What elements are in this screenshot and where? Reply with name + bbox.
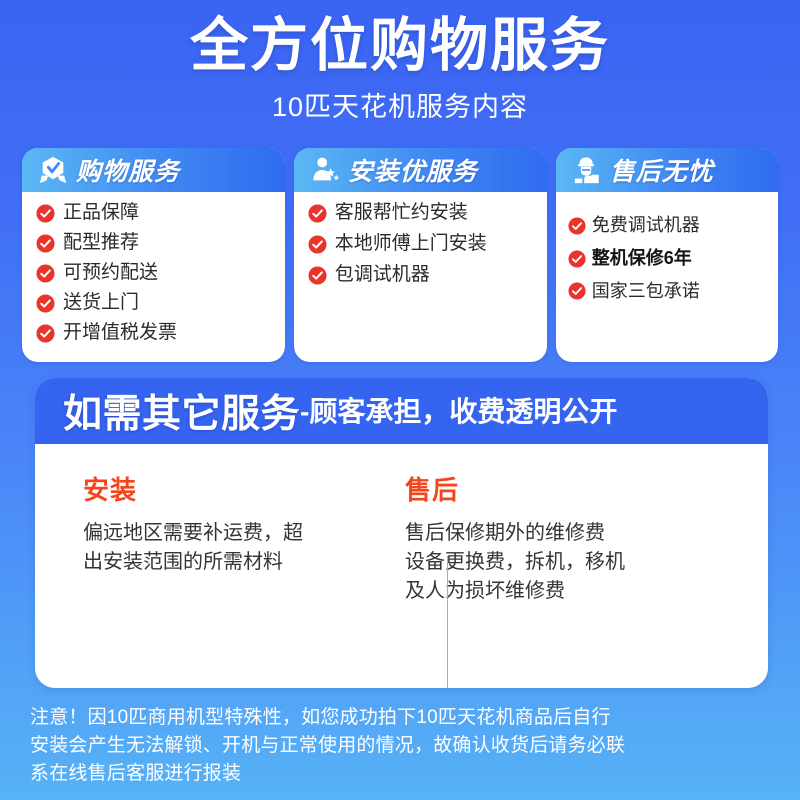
column-divider: [447, 556, 448, 688]
check-circle-icon: [568, 282, 586, 300]
list-item: 免费调试机器: [568, 216, 778, 236]
service-card-after-sales: 售后无忧 免费调试机器 整机保修6年 国家三包承诺: [556, 148, 778, 362]
list-item-label: 可预约配送: [63, 263, 158, 284]
panel-header-main: 如需其它服务: [63, 383, 300, 439]
card-title: 购物服务: [76, 152, 180, 188]
list-item-label: 国家三包承诺: [592, 282, 700, 302]
card-title: 售后无忧: [610, 152, 714, 188]
column-text-line: 设备更换费，拆机，移机: [405, 548, 625, 577]
panel-header: 如需其它服务 -顾客承担，收费透明公开: [35, 378, 768, 444]
service-worker-cap-icon: [572, 155, 602, 185]
page-title: 全方位购物服务: [0, 14, 800, 79]
list-item: 送货上门: [36, 293, 285, 314]
service-cards-row: 购物服务 正品保障 配型推荐 可预约配送: [22, 148, 778, 362]
card-title: 安装优服务: [348, 152, 478, 188]
card-body: 正品保障 配型推荐 可预约配送 送货上门: [22, 192, 285, 362]
footer-notice-line: 安装会产生无法解锁、开机与正常使用的情况，故确认收货后请务必联: [30, 732, 778, 760]
check-circle-icon: [36, 234, 55, 253]
list-item: 正品保障: [36, 203, 285, 224]
footer-notice-line: 系在线售后客服进行报装: [30, 760, 778, 788]
column-text-line: 出安装范围的所需材料: [83, 548, 303, 577]
check-circle-icon: [36, 204, 55, 223]
list-item: 包调试机器: [308, 265, 547, 286]
panel-body: 安装 偏远地区需要补运费，超 出安装范围的所需材料 售后 售后保修期外的维修费 …: [35, 444, 768, 688]
list-item-label: 本地师傅上门安装: [335, 234, 487, 255]
list-item-label: 包调试机器: [335, 265, 430, 286]
hero-section: 全方位购物服务 10匹天花机服务内容: [0, 0, 800, 124]
column-text: 售后保修期外的维修费 设备更换费，拆机，移机 及人为损坏维修费: [405, 519, 625, 606]
service-card-shopping: 购物服务 正品保障 配型推荐 可预约配送: [22, 148, 285, 362]
list-item: 开增值税发票: [36, 323, 285, 344]
panel-column-after-sales: 售后 售后保修期外的维修费 设备更换费，拆机，移机 及人为损坏维修费: [369, 470, 625, 688]
list-item-label: 免费调试机器: [592, 216, 700, 236]
check-circle-icon: [36, 294, 55, 313]
panel-column-installation: 安装 偏远地区需要补运费，超 出安装范围的所需材料: [35, 470, 303, 688]
list-item: 整机保修6年: [568, 249, 778, 269]
check-circle-icon: [568, 250, 586, 268]
card-body: 客服帮忙约安装 本地师傅上门安装 包调试机器: [294, 192, 547, 362]
footer-notice-line: 注意！因10匹商用机型特殊性，如您成功拍下10匹天花机商品后自行: [30, 704, 778, 732]
column-title: 安装: [83, 470, 303, 507]
footer-notice: 注意！因10匹商用机型特殊性，如您成功拍下10匹天花机商品后自行 安装会产生无法…: [30, 704, 778, 788]
list-item-label: 客服帮忙约安装: [335, 203, 468, 224]
check-circle-icon: [568, 217, 586, 235]
column-text: 偏远地区需要补运费，超 出安装范围的所需材料: [83, 519, 303, 577]
check-circle-icon: [36, 324, 55, 343]
check-circle-icon: [308, 266, 327, 285]
list-item-label: 送货上门: [63, 293, 139, 314]
list-item: 本地师傅上门安装: [308, 234, 547, 255]
list-item: 国家三包承诺: [568, 282, 778, 302]
check-circle-icon: [308, 204, 327, 223]
service-card-installation: 安装优服务 客服帮忙约安装 本地师傅上门安装 包调试机器: [294, 148, 547, 362]
list-item-label: 配型推荐: [63, 233, 139, 254]
other-services-panel: 如需其它服务 -顾客承担，收费透明公开 安装 偏远地区需要补运费，超 出安装范围…: [35, 378, 768, 688]
card-header: 购物服务: [22, 148, 285, 192]
column-text-line: 偏远地区需要补运费，超: [83, 519, 303, 548]
check-circle-icon: [36, 264, 55, 283]
card-body: 免费调试机器 整机保修6年 国家三包承诺: [556, 192, 778, 362]
list-item-label: 正品保障: [63, 203, 139, 224]
list-item: 客服帮忙约安装: [308, 203, 547, 224]
card-header: 售后无忧: [556, 148, 778, 192]
check-circle-icon: [308, 235, 327, 254]
column-title: 售后: [405, 470, 625, 507]
installer-person-star-icon: [310, 155, 340, 185]
column-text-line: 及人为损坏维修费: [405, 577, 625, 606]
shield-check-badge-icon: [38, 155, 68, 185]
list-item-label: 开增值税发票: [63, 323, 177, 344]
card-header: 安装优服务: [294, 148, 547, 192]
page-subtitle: 10匹天花机服务内容: [0, 85, 800, 124]
list-item: 配型推荐: [36, 233, 285, 254]
list-item: 可预约配送: [36, 263, 285, 284]
panel-header-sub: -顾客承担，收费透明公开: [300, 390, 617, 432]
list-item-label: 整机保修6年: [592, 249, 692, 269]
column-text-line: 售后保修期外的维修费: [405, 519, 625, 548]
